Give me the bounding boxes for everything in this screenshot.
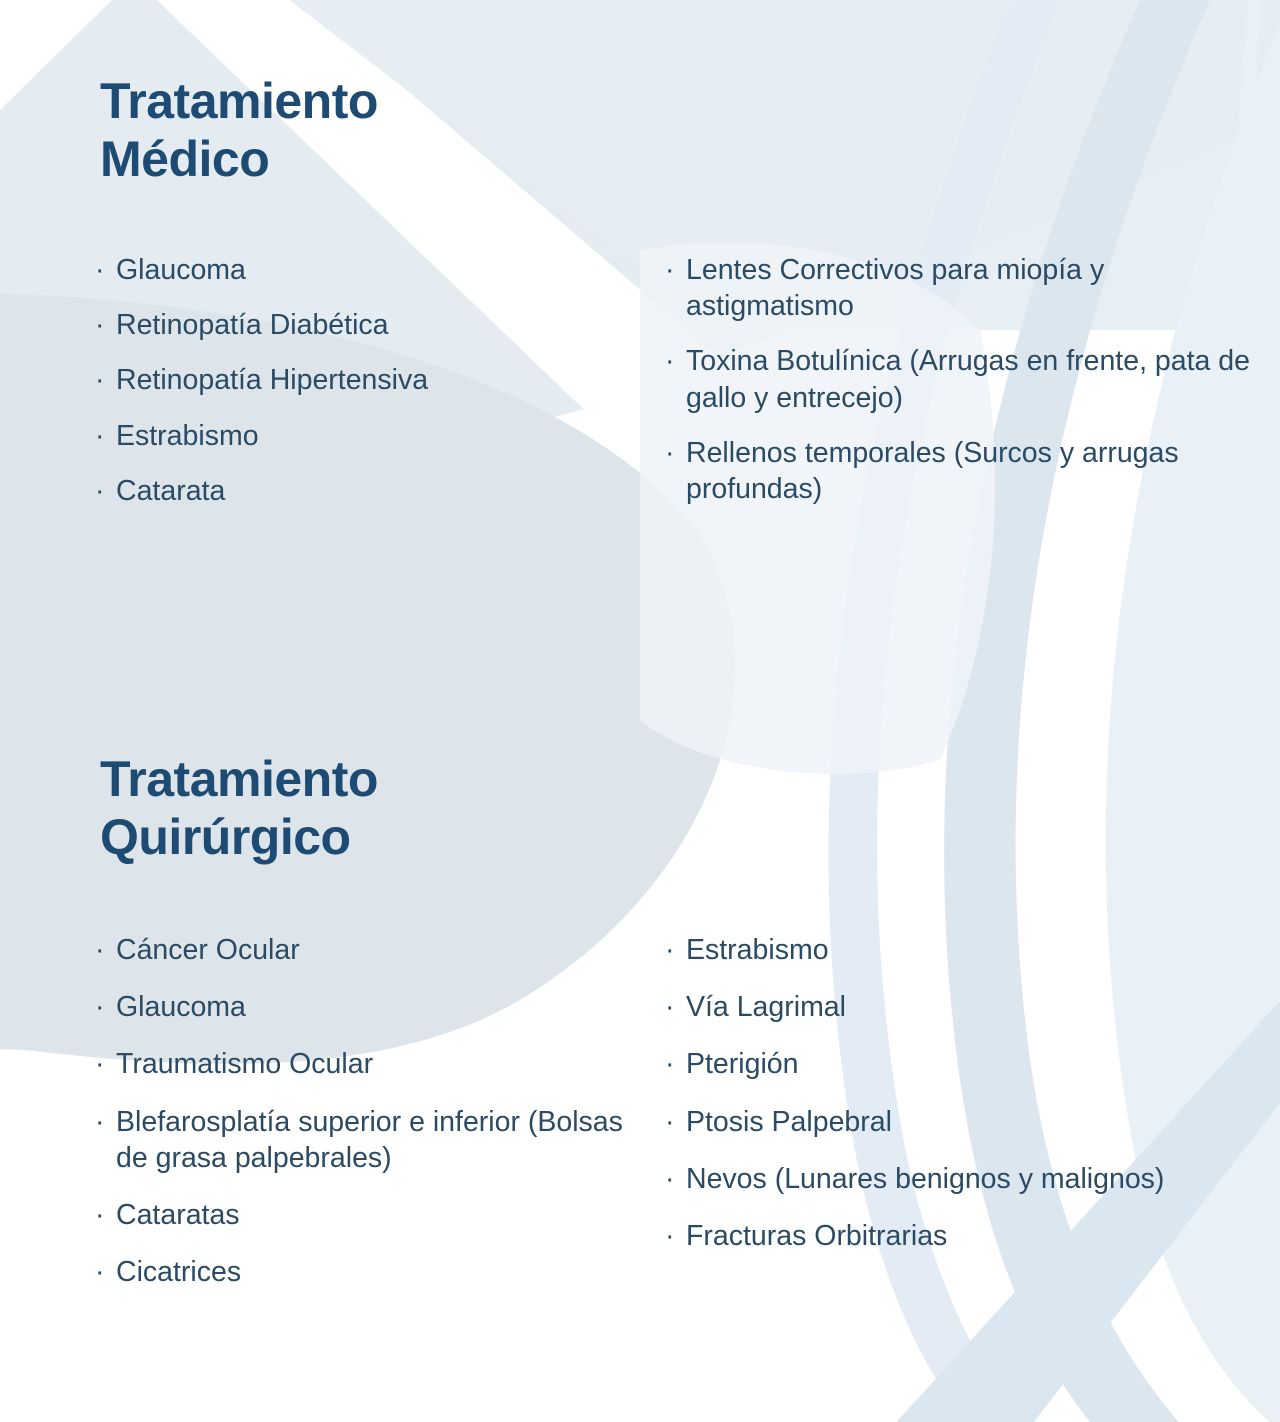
bullet-dot-icon: ·	[95, 989, 105, 1025]
bullet-dot-icon: ·	[665, 1104, 675, 1140]
list-item: ·Fracturas Orbitrarias	[662, 1218, 1252, 1254]
bullet-dot-icon: ·	[665, 343, 675, 379]
list-item-label: Fracturas Orbitrarias	[686, 1220, 947, 1252]
list-item-label: Traumatismo Ocular	[116, 1048, 373, 1080]
list-item: ·Cicatrices	[92, 1254, 652, 1290]
list-item-label: Pterigión	[686, 1048, 798, 1080]
bullet-dot-icon: ·	[95, 307, 105, 343]
bullet-dot-icon: ·	[665, 1046, 675, 1082]
bullet-dot-icon: ·	[95, 1197, 105, 1233]
list-item-label: Glaucoma	[116, 254, 246, 286]
bullet-list-quirurgico-right: ·Estrabismo·Vía Lagrimal·Pterigión·Ptosi…	[662, 932, 1252, 1254]
list-item-label: Nevos (Lunares benignos y malignos)	[686, 1163, 1164, 1195]
list-item: ·Rellenos temporales (Surcos y arrugas p…	[662, 435, 1252, 507]
bullet-list-quirurgico-left: ·Cáncer Ocular·Glaucoma·Traumatismo Ocul…	[92, 932, 652, 1290]
bullet-dot-icon: ·	[665, 435, 675, 471]
section-title-medico: Tratamiento Médico	[100, 72, 378, 188]
column-quirurgico-right: ·Estrabismo·Vía Lagrimal·Pterigión·Ptosi…	[662, 932, 1252, 1311]
list-item-label: Vía Lagrimal	[686, 991, 846, 1023]
list-item-label: Lentes Correctivos para miopía y astigma…	[686, 254, 1104, 322]
list-item: ·Vía Lagrimal	[662, 989, 1252, 1025]
section-title-quirurgico: Tratamiento Quirúrgico	[100, 750, 378, 866]
list-item: ·Cataratas	[92, 1197, 652, 1233]
list-item-label: Blefarosplatía superior e inferior (Bols…	[116, 1106, 623, 1174]
bullet-dot-icon: ·	[665, 1218, 675, 1254]
column-medico-left: ·Glaucoma·Retinopatía Diabética·Retinopa…	[92, 252, 652, 528]
bullet-dot-icon: ·	[665, 252, 675, 288]
list-item-label: Cicatrices	[116, 1256, 241, 1288]
list-item-label: Glaucoma	[116, 991, 246, 1023]
bullet-dot-icon: ·	[95, 362, 105, 398]
list-item: ·Traumatismo Ocular	[92, 1046, 652, 1082]
list-item-label: Estrabismo	[116, 420, 259, 452]
list-item-label: Catarata	[116, 475, 225, 507]
list-item-label: Ptosis Palpebral	[686, 1106, 892, 1138]
list-item: ·Ptosis Palpebral	[662, 1104, 1252, 1140]
list-item: ·Toxina Botulínica (Arrugas en frente, p…	[662, 343, 1252, 415]
list-item-label: Estrabismo	[686, 934, 829, 966]
bullet-dot-icon: ·	[95, 1104, 105, 1140]
list-item: ·Nevos (Lunares benignos y malignos)	[662, 1161, 1252, 1197]
list-item: ·Pterigión	[662, 1046, 1252, 1082]
list-item: ·Estrabismo	[92, 418, 652, 454]
bullet-dot-icon: ·	[95, 1046, 105, 1082]
bullet-dot-icon: ·	[95, 252, 105, 288]
list-item: ·Lentes Correctivos para miopía y astigm…	[662, 252, 1252, 324]
list-item: ·Blefarosplatía superior e inferior (Bol…	[92, 1104, 652, 1176]
bullet-dot-icon: ·	[665, 1161, 675, 1197]
section-tratamiento-quirurgico: Tratamiento Quirúrgico ·Cáncer Ocular·Gl…	[0, 740, 1280, 1422]
list-item-label: Toxina Botulínica (Arrugas en frente, pa…	[686, 345, 1250, 413]
list-item-label: Retinopatía Diabética	[116, 309, 389, 341]
list-item-label: Rellenos temporales (Surcos y arrugas pr…	[686, 437, 1179, 505]
list-item: ·Glaucoma	[92, 989, 652, 1025]
list-item: ·Retinopatía Hipertensiva	[92, 362, 652, 398]
column-medico-right: ·Lentes Correctivos para miopía y astigm…	[662, 252, 1252, 528]
section-tratamiento-medico: Tratamiento Médico ·Glaucoma·Retinopatía…	[0, 0, 1280, 700]
bullet-dot-icon: ·	[665, 989, 675, 1025]
bullet-dot-icon: ·	[95, 932, 105, 968]
bullet-dot-icon: ·	[665, 932, 675, 968]
bullet-dot-icon: ·	[95, 473, 105, 509]
list-item: ·Retinopatía Diabética	[92, 307, 652, 343]
list-item: ·Catarata	[92, 473, 652, 509]
column-quirurgico-left: ·Cáncer Ocular·Glaucoma·Traumatismo Ocul…	[92, 932, 652, 1311]
list-item-label: Cáncer Ocular	[116, 934, 300, 966]
list-item-label: Retinopatía Hipertensiva	[116, 364, 428, 396]
list-item-label: Cataratas	[116, 1199, 240, 1231]
slide-content: Tratamiento Médico ·Glaucoma·Retinopatía…	[0, 0, 1280, 1422]
list-item: ·Cáncer Ocular	[92, 932, 652, 968]
bullet-list-medico-right: ·Lentes Correctivos para miopía y astigm…	[662, 252, 1252, 507]
bullet-dot-icon: ·	[95, 418, 105, 454]
bullet-list-medico-left: ·Glaucoma·Retinopatía Diabética·Retinopa…	[92, 252, 652, 509]
list-item: ·Glaucoma	[92, 252, 652, 288]
list-item: ·Estrabismo	[662, 932, 1252, 968]
bullet-dot-icon: ·	[95, 1254, 105, 1290]
